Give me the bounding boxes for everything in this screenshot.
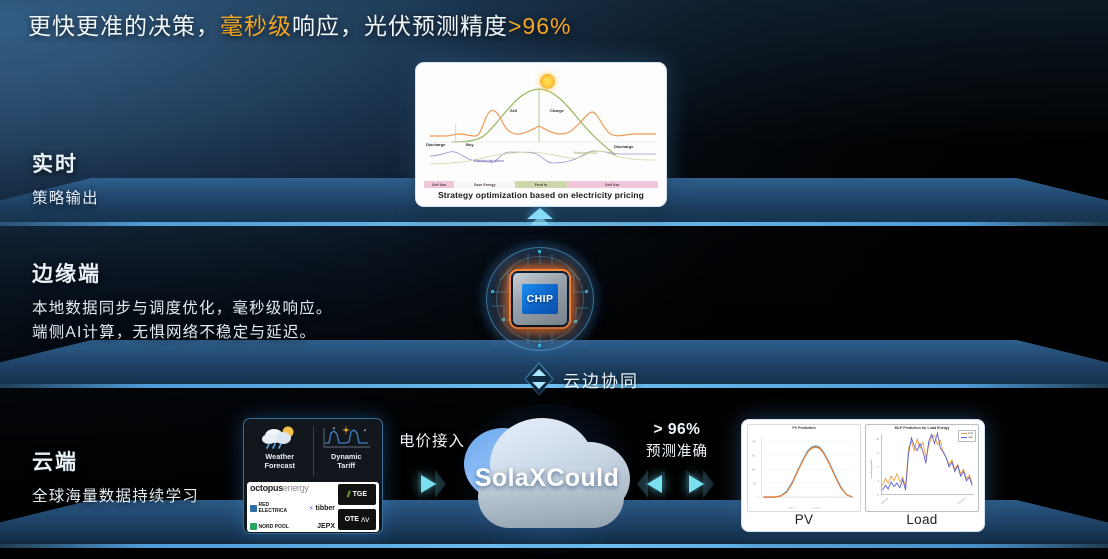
annotation-buy: Buy bbox=[466, 142, 474, 147]
svg-text:— pred_pv: — pred_pv bbox=[812, 507, 821, 510]
strategy-chart: Discharge Buy Sell Charge Discharge Elec… bbox=[422, 68, 660, 180]
annotation-discharge-2: Discharge bbox=[614, 144, 633, 149]
logo-red-electrica: REDELECTRICA bbox=[250, 502, 287, 514]
title-part-2: 响应，光伏预测精度 bbox=[292, 13, 508, 39]
svg-text:1200: 1200 bbox=[752, 441, 757, 443]
annotation-sell: Sell bbox=[510, 108, 517, 113]
svg-text:8: 8 bbox=[878, 453, 880, 455]
flow-arrow-up-icon bbox=[527, 208, 553, 230]
svg-text:600: 600 bbox=[752, 469, 756, 471]
source-logos-panel: octopusenergy REDELECTRICA ⚡tibber NORD … bbox=[247, 482, 379, 532]
edge-heading: 边缘端 bbox=[32, 258, 333, 288]
logo-tge: ⫽TGE bbox=[338, 484, 376, 505]
pv-plot: PV Prediction 1200900 6003000 bbox=[747, 424, 861, 512]
svg-text:4: 4 bbox=[878, 481, 880, 483]
cloud-name-label: SolaXCould bbox=[464, 464, 630, 493]
accuracy-value: > 96% bbox=[640, 421, 714, 439]
layer-label-cloud: 云端 全球海量数据持续学习 bbox=[32, 446, 199, 509]
edge-chip-graphic: CHIP bbox=[478, 240, 602, 358]
presentation-slide: 更快更准的决策，毫秒级响应，光伏预测精度>96% 实时 策略输出 边缘端 本地数… bbox=[0, 0, 1108, 559]
svg-text:2023-03-01: 2023-03-01 bbox=[881, 498, 889, 505]
annotation-charge: Charge bbox=[550, 108, 564, 113]
accuracy-label: 预测准确 bbox=[640, 440, 714, 461]
logo-tibber: ⚡tibber bbox=[308, 504, 335, 513]
play-arrow-right-icon-2[interactable] bbox=[686, 469, 714, 499]
cloud-heading: 云端 bbox=[32, 446, 199, 476]
legend-pred: pred bbox=[968, 432, 973, 435]
chip-body: CHIP bbox=[513, 273, 567, 325]
load-big-label: Load bbox=[865, 512, 979, 527]
pv-prediction-panel: PV Prediction 1200900 6003000 bbox=[747, 424, 861, 527]
legend-real: real bbox=[968, 436, 972, 439]
dynamic-tariff-label: DynamicTariff bbox=[331, 453, 361, 470]
collaboration-label: 云边协同 bbox=[563, 367, 639, 392]
realtime-sub: 策略输出 bbox=[32, 187, 99, 211]
series-label-price: Electricity price bbox=[474, 158, 504, 163]
logo-ote: OTE⋀⋁ bbox=[338, 509, 376, 530]
svg-text:0: 0 bbox=[758, 497, 760, 499]
segment-feed-in: Feed In bbox=[515, 181, 566, 188]
svg-text:— real_pv: — real_pv bbox=[787, 507, 795, 510]
series-label-soc: Battery SOC bbox=[574, 150, 598, 155]
svg-text:300: 300 bbox=[753, 483, 757, 485]
logo-jepx: JEPX bbox=[317, 523, 335, 530]
segment-save-energy: Save Energy bbox=[454, 181, 515, 188]
weather-forecast-label: WeatherForecast bbox=[265, 453, 295, 470]
load-plot: MLP Prediction for Load Energy 1086 42 L… bbox=[865, 424, 979, 512]
solax-cloud-graphic[interactable]: SolaXCould bbox=[464, 416, 630, 534]
title-highlight-2: >96% bbox=[508, 13, 571, 39]
weather-forecast-cell[interactable]: WeatherForecast bbox=[247, 422, 313, 480]
play-arrow-right-icon[interactable] bbox=[418, 469, 446, 499]
strategy-card-caption: Strategy optimization based on electrici… bbox=[422, 190, 660, 200]
accuracy-block: > 96% 预测准确 bbox=[640, 421, 714, 461]
segment-self-use-2: Self Use bbox=[567, 181, 658, 188]
svg-text:2: 2 bbox=[878, 495, 880, 497]
strategy-optimization-card[interactable]: Discharge Buy Sell Charge Discharge Elec… bbox=[415, 62, 667, 207]
title-highlight-1: 毫秒级 bbox=[220, 13, 292, 39]
pv-big-label: PV bbox=[747, 512, 861, 527]
prediction-card[interactable]: PV Prediction 1200900 6003000 bbox=[741, 419, 985, 532]
logo-octopus-energy: octopusenergy bbox=[250, 484, 335, 493]
realtime-heading: 实时 bbox=[32, 148, 99, 178]
pv-plot-svg: 1200900 6003000 — real_pv— pred_pv bbox=[748, 425, 860, 511]
title-part-1: 更快更准的决策， bbox=[28, 13, 220, 39]
sun-icon bbox=[540, 74, 555, 89]
tariff-curve-icon bbox=[320, 425, 372, 451]
double-arrow-diamond-icon bbox=[524, 362, 554, 396]
chip-die: CHIP bbox=[522, 284, 558, 314]
layer-label-edge: 边缘端 本地数据同步与调度优化，毫秒级响应。 端侧AI计算，无惧网络不稳定与延迟… bbox=[32, 258, 333, 345]
cloud-edge-collaboration: 云边协同 bbox=[524, 362, 639, 396]
chip-label: CHIP bbox=[527, 293, 554, 305]
cloud-sub: 全球海量数据持续学习 bbox=[32, 485, 199, 509]
svg-text:10: 10 bbox=[877, 439, 880, 441]
edge-line-1: 本地数据同步与调度优化，毫秒级响应。 bbox=[32, 297, 333, 321]
svg-text:900: 900 bbox=[752, 455, 756, 457]
dynamic-tariff-cell[interactable]: DynamicTariff bbox=[314, 422, 380, 480]
logo-nord-pool: NORD POOL bbox=[250, 523, 289, 530]
load-plot-legend: pred real bbox=[958, 430, 976, 442]
data-sources-top: WeatherForecast bbox=[247, 422, 379, 480]
load-ylabel: Load Energy (kWh) bbox=[870, 459, 873, 478]
strategy-segment-bar: Self Use Save Energy Feed In Self Use bbox=[424, 181, 658, 188]
data-sources-card[interactable]: WeatherForecast bbox=[243, 418, 383, 534]
load-prediction-panel: MLP Prediction for Load Energy 1086 42 L… bbox=[865, 424, 979, 527]
edge-line-2: 端侧AI计算，无惧网络不稳定与延迟。 bbox=[32, 321, 333, 345]
segment-self-use-1: Self Use bbox=[424, 181, 454, 188]
svg-text:2023-03-07: 2023-03-07 bbox=[958, 498, 966, 505]
page-title: 更快更准的决策，毫秒级响应，光伏预测精度>96% bbox=[28, 7, 571, 41]
cloud-rain-sun-icon bbox=[260, 425, 300, 451]
layer-label-realtime: 实时 策略输出 bbox=[32, 148, 99, 211]
svg-text:6: 6 bbox=[878, 467, 880, 469]
annotation-discharge-1: Discharge bbox=[426, 142, 445, 147]
